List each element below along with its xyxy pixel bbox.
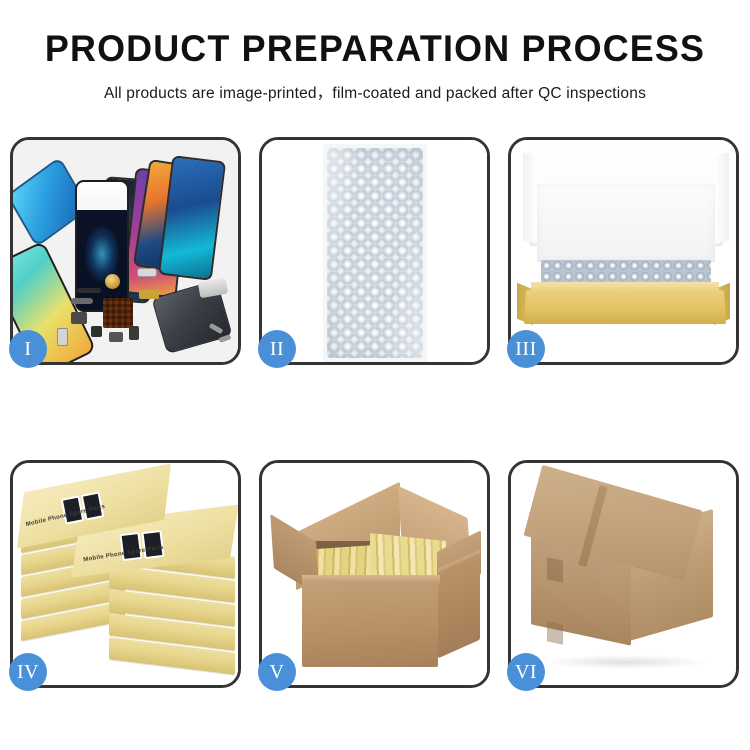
page-subtitle: All products are image-printed，film-coat… — [0, 81, 750, 103]
step-5-image — [262, 463, 487, 685]
antenna-cable-icon — [71, 298, 93, 304]
step-6-image — [511, 463, 736, 685]
vibrator-motor-icon — [91, 326, 102, 337]
step-badge-6: VI — [507, 653, 545, 691]
backdrop-right — [473, 140, 487, 362]
sim-tray-icon — [109, 332, 123, 342]
step-3-image — [511, 140, 736, 362]
kraft-box-front-icon — [524, 290, 726, 324]
bubble-wrap-highlight — [327, 148, 423, 358]
foam-insert-icon — [537, 184, 715, 262]
step-badge-4: IV — [9, 653, 47, 691]
step-badge-2: II — [258, 330, 296, 368]
connector-icon — [137, 268, 157, 277]
camera-lens-icon — [105, 274, 120, 289]
carton-side-right — [438, 554, 480, 659]
button-flex-icon — [129, 326, 139, 340]
step-badge-5: V — [258, 653, 296, 691]
flex-cable-icon — [77, 288, 101, 293]
process-step-panel-4: Mobile Phone Spare Parts Mobile Phone Sp… — [10, 460, 241, 688]
step-2-image — [262, 140, 487, 362]
carton-front-icon — [302, 581, 438, 667]
process-step-panel-2: II — [259, 137, 490, 365]
step-badge-1: I — [9, 330, 47, 368]
header: PRODUCT PREPARATION PROCESS All products… — [0, 0, 750, 103]
battery-connector-icon — [57, 328, 68, 346]
carton-shadow — [541, 655, 711, 669]
process-steps-grid: I II III — [10, 137, 740, 688]
product-preparation-infographic: PRODUCT PREPARATION PROCESS All products… — [0, 0, 750, 750]
process-step-panel-6: VI — [508, 460, 739, 688]
process-step-panel-5: V — [259, 460, 490, 688]
page-title: PRODUCT PREPARATION PROCESS — [11, 30, 739, 67]
gold-contact-icon — [139, 290, 159, 299]
speaker-module-icon — [71, 312, 87, 324]
tool-icon — [198, 278, 228, 299]
step-1-image — [13, 140, 238, 362]
circuit-board-icon — [103, 298, 133, 328]
carton-handle-tab — [547, 557, 563, 582]
carton-handle-tab — [547, 621, 563, 644]
step-4-image: Mobile Phone Spare Parts Mobile Phone Sp… — [13, 463, 238, 685]
step-badge-3: III — [507, 330, 545, 368]
process-step-panel-1: I — [10, 137, 241, 365]
backdrop-left — [262, 140, 276, 362]
retail-box-stack: Mobile Phone Spare Parts Mobile Phone Sp… — [17, 477, 238, 681]
process-step-panel-3: III — [508, 137, 739, 365]
